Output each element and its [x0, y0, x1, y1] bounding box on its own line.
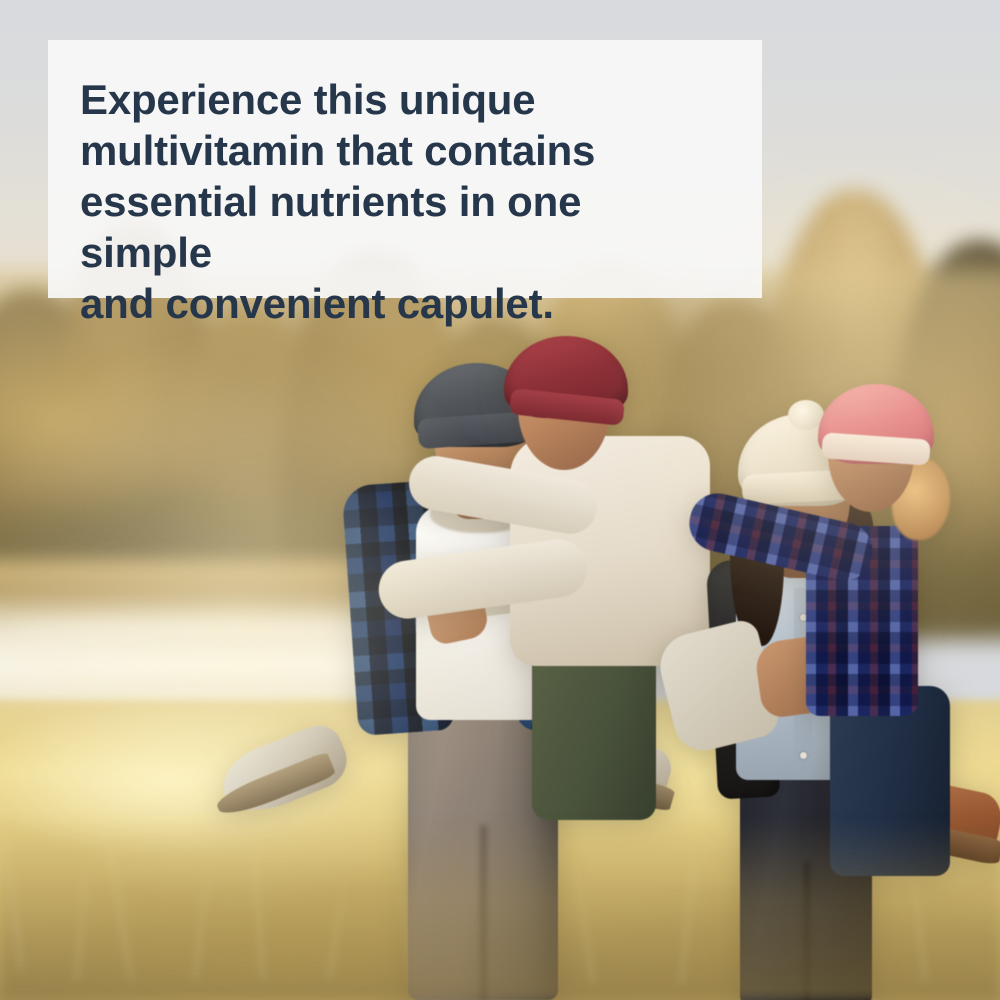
- foreground-grass-shadow: [0, 820, 1000, 1000]
- son-olive-pants: [532, 640, 656, 820]
- promotional-banner: Experience this unique multivitamin that…: [0, 0, 1000, 1000]
- headline-panel: Experience this unique multivitamin that…: [48, 40, 762, 298]
- headline-text: Experience this unique multivitamin that…: [80, 74, 722, 329]
